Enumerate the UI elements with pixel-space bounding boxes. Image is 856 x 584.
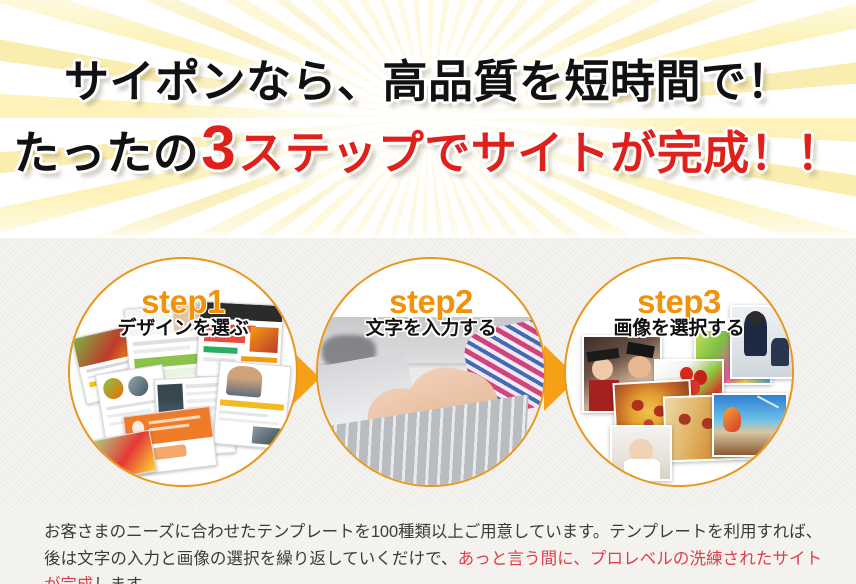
hero-step-count-number: 3 [199, 114, 238, 183]
step-1-artwork [70, 259, 296, 485]
hero-headline-line-2-suffix: ステップでサイトが完成！！ [238, 127, 843, 179]
collage-photo-baby [610, 425, 672, 481]
caption-section: お客さまのニーズに合わせたテンプレートを100種類以上ご用意しています。テンプレ… [0, 508, 856, 584]
collage-photo-balloon-sky [712, 393, 788, 457]
step-2-artwork [318, 259, 544, 485]
step-circle-3[interactable]: step3 画像を選択する [564, 257, 794, 487]
step-circle-2[interactable]: step2 文字を入力する [316, 257, 546, 487]
collage-photo-family [730, 305, 794, 379]
hero-banner: サイポンなら、高品質を短時間で！ たったの3ステップでサイトが完成！！ [0, 0, 856, 238]
step-3-artwork [566, 259, 792, 485]
hands-typing-photo [316, 317, 546, 487]
template-mockup-woman [212, 360, 291, 450]
promo-page: サイポンなら、高品質を短時間で！ たったの3ステップでサイトが完成！！ [0, 0, 856, 584]
step-circle-1[interactable]: step1 デザインを選ぶ [68, 257, 298, 487]
hero-headline-line-2-prefix: たったの [13, 127, 199, 179]
template-mockup-produce [89, 429, 158, 482]
caption-paragraph: お客さまのニーズに合わせたテンプレートを100種類以上ご用意しています。テンプレ… [44, 519, 822, 584]
caption-part-2: します。 [93, 576, 157, 584]
hero-headline-group: サイポンなら、高品質を短時間で！ たったの3ステップでサイトが完成！！ [0, 0, 856, 238]
hero-headline-line-1: サイポンなら、高品質を短時間で！ [64, 59, 792, 104]
hero-headline-line-2: たったの3ステップでサイトが完成！！ [13, 118, 842, 180]
